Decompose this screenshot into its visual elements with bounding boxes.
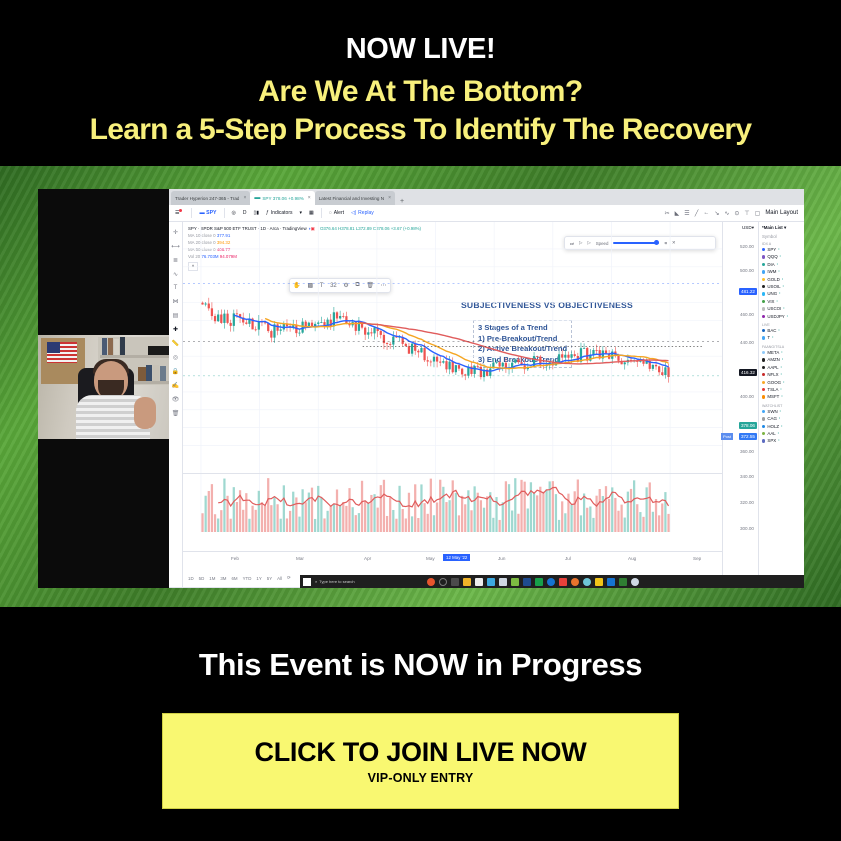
now-live-label: NOW LIVE! <box>346 33 495 66</box>
symbol-status-dot: • <box>781 349 782 356</box>
alert-button[interactable]: ◌ Alert <box>329 210 344 216</box>
trend-line-icon[interactable]: ⟷ <box>171 243 180 250</box>
windows-start-icon[interactable] <box>303 578 311 586</box>
browser-tab-2[interactable]: Latest Financial and Investing N × <box>315 191 395 205</box>
time-tick-7: Sep <box>693 556 701 561</box>
symbol-color-icon <box>762 270 765 273</box>
replay-button[interactable]: ◁| Replay <box>351 210 374 216</box>
volume-pane <box>183 473 722 551</box>
draw-mode-icon[interactable]: ✍ <box>172 382 179 389</box>
line-icon[interactable]: ╱ <box>695 210 699 217</box>
symbol-status-dot: • <box>778 246 779 253</box>
watchlist-symbol: USOIL <box>767 283 780 290</box>
symbol-status-dot: • <box>787 313 788 320</box>
time-tick-2: Apr <box>364 556 371 561</box>
presenter-webcam <box>38 335 180 439</box>
symbol-color-icon <box>762 432 765 435</box>
symbol-color-icon <box>762 248 765 251</box>
browser-tab-1[interactable]: ▬ SPY 378.06 +0.98% × <box>250 191 314 205</box>
range-1d[interactable]: 1D <box>188 576 194 581</box>
watchlist-row[interactable]: DIA• <box>762 261 801 268</box>
watchlist-row[interactable]: T• <box>762 334 801 341</box>
symbol-status-dot: • <box>778 327 779 334</box>
promo-header: NOW LIVE! Are We At The Bottom? Learn a … <box>0 0 841 166</box>
watchlist-row[interactable]: NFLX• <box>762 371 801 378</box>
range-6m[interactable]: 6M <box>231 576 237 581</box>
post-market-label: Post <box>721 433 733 440</box>
watchlist-symbol: GOOG <box>767 379 781 386</box>
symbol-status-dot: • <box>780 408 781 415</box>
taskbar-icon-app2[interactable] <box>535 578 543 586</box>
range-5y[interactable]: 5Y <box>267 576 272 581</box>
watchlist-symbol: GOLD <box>767 276 779 283</box>
symbol-color-icon <box>762 300 765 303</box>
symbol-search-button[interactable]: ▬ SPY <box>199 210 216 216</box>
watchlist-items: IDX ASPY•QQQ•DIA•IWM•GOLD•USOIL•UNG•VIX•… <box>762 242 801 445</box>
price-tick-5: 360.00 <box>740 449 754 454</box>
watchlist-panel[interactable]: *Main List ▾ Symbol IDX ASPY•QQQ•DIA•IWM… <box>758 222 804 587</box>
price-axis[interactable]: USD▾ 520.00 500.00 481.22 460.00 440.00 … <box>722 222 758 587</box>
symbol-color-icon <box>762 336 765 339</box>
watchlist-row[interactable]: IWM• <box>762 268 801 275</box>
watchlist-row[interactable]: SWN• <box>762 408 801 415</box>
time-tick-3: May <box>426 556 435 561</box>
hide-drawings-icon[interactable]: 👁 <box>172 396 180 403</box>
watchlist-symbol: AMZN <box>767 356 779 363</box>
watchlist-row[interactable]: META• <box>762 349 801 356</box>
tradingview-toolbar: ☰ ▬ SPY ◎ D ▯▮ ƒ Indicators ▾ ▦ ◌ Alert … <box>169 205 804 222</box>
timezone-refresh-icon[interactable]: ⟳ <box>287 575 291 581</box>
symbol-color-icon <box>762 255 765 258</box>
taskbar-icon-app4[interactable] <box>631 578 639 586</box>
layout-icon[interactable]: ▢ <box>755 210 761 217</box>
taskbar-icon-skype[interactable] <box>607 578 615 586</box>
range-5d[interactable]: 5D <box>199 576 205 581</box>
time-tick-6: Aug <box>628 556 636 561</box>
symbol-status-dot: • <box>778 430 779 437</box>
emoji-icon[interactable]: ✚ <box>173 326 178 333</box>
pitchfork-icon[interactable]: ↘ <box>714 210 719 217</box>
watchlist-symbol: TSLA <box>767 386 778 393</box>
watchlist-row[interactable]: MSFT• <box>762 393 801 400</box>
watchlist-row[interactable]: SPX• <box>762 437 801 444</box>
symbol-status-dot: • <box>780 386 781 393</box>
price-tick-7: 320.00 <box>740 500 754 505</box>
symbol-color-icon <box>762 395 765 398</box>
symbol-status-dot: • <box>783 283 784 290</box>
currency-label[interactable]: USD▾ <box>742 225 754 231</box>
watchlist-symbol: SWN <box>767 408 777 415</box>
symbol-status-dot: • <box>781 393 782 400</box>
fib-icon[interactable]: ⊤ <box>744 210 749 217</box>
watchlist-column-header: Symbol <box>762 234 801 239</box>
symbol-color-icon <box>762 329 765 332</box>
watchlist-symbol: VIX <box>767 298 774 305</box>
text-tool-icon[interactable]: T <box>174 285 178 291</box>
close-icon[interactable]: × <box>388 195 391 201</box>
price-tick-2: 460.00 <box>740 312 754 317</box>
symbol-status-dot: • <box>772 334 773 341</box>
search-icon: ⌕ <box>315 579 317 584</box>
taskbar-icon-mail[interactable] <box>487 578 495 586</box>
symbol-status-dot: • <box>779 290 780 297</box>
symbol-color-icon <box>762 285 765 288</box>
time-tick-5: Jul <box>565 556 571 561</box>
cta-heading: This Event is NOW in Progress <box>199 647 642 683</box>
chevron-down-icon[interactable]: ▾ <box>300 210 303 216</box>
headline-line-2: Learn a 5-Step Process To Identify The R… <box>90 113 752 147</box>
symbol-color-icon <box>762 278 765 281</box>
interval-button[interactable]: D <box>243 210 247 216</box>
taskbar-icon-cortana[interactable] <box>427 578 435 586</box>
zigzag-icon[interactable]: ∿ <box>724 210 729 217</box>
price-tick-0: 520.00 <box>740 244 754 249</box>
symbol-status-dot: • <box>783 379 784 386</box>
browser-window: Trader Hyperion 247-365 - Trad × ▬ SPY 3… <box>169 189 804 588</box>
close-icon[interactable]: × <box>243 195 246 201</box>
taskbar-icon-chrome[interactable] <box>583 578 591 586</box>
price-tick-3: 440.00 <box>740 340 754 345</box>
symbol-status-dot: • <box>782 356 783 363</box>
pitchfork-tool-icon[interactable]: ∿ <box>173 271 178 278</box>
circle-icon[interactable]: ⊙ <box>734 210 739 217</box>
symbol-color-icon <box>762 425 765 428</box>
cta-section: This Event is NOW in Progress CLICK TO J… <box>0 607 841 841</box>
symbol-status-dot: • <box>781 423 782 430</box>
taskbar-icon-widgets[interactable] <box>451 578 459 586</box>
taskbar-icon-tradingview[interactable] <box>523 578 531 586</box>
ticker-dash-icon: ▬ <box>254 195 260 201</box>
symbol-status-dot: • <box>778 437 779 444</box>
screen-share-frame: Trader Hyperion 247-365 - Trad × ▬ SPY 3… <box>38 189 804 588</box>
symbol-status-dot: • <box>780 253 781 260</box>
symbol-status-dot: • <box>776 298 777 305</box>
taskbar-search[interactable]: ⌕ Type here to search <box>315 579 423 584</box>
watchlist-row[interactable]: USDJPY• <box>762 313 801 320</box>
time-tick-4: Jun <box>498 556 505 561</box>
taskbar-icon-edge[interactable] <box>547 578 555 586</box>
chart-canvas[interactable]: SPY · SPDR S&P 500 ETF TRUST · 1D · Arca… <box>183 222 722 587</box>
watchlist-symbol: SPX <box>767 437 776 444</box>
watchlist-symbol: CAG <box>767 415 777 422</box>
symbol-status-dot: • <box>782 276 783 283</box>
magnet-icon[interactable]: ✂ <box>665 210 670 217</box>
watchlist-row[interactable]: AMZN• <box>762 356 801 363</box>
price-tick-6: 340.00 <box>740 474 754 479</box>
watchlist-row[interactable]: GOOG• <box>762 379 801 386</box>
magnet-tool-icon[interactable]: ◎ <box>173 354 178 361</box>
symbol-color-icon <box>762 292 765 295</box>
tradingview-body: ✛ ⟷ ≣ ∿ T ⋈ ▤ ✚ 📏 ◎ 🔒 ✍ 👁 🗑 <box>169 222 804 587</box>
windows-taskbar: ⌕ Type here to search <box>300 575 804 588</box>
crosshair-icon[interactable]: ✛ <box>173 229 178 236</box>
taskbar-icon-store[interactable] <box>475 578 483 586</box>
close-icon[interactable]: × <box>308 195 311 201</box>
price-tick-4: 400.00 <box>740 394 754 399</box>
watchlist-symbol: MSFT <box>767 393 779 400</box>
symbol-status-dot: • <box>777 261 778 268</box>
symbol-color-icon <box>762 439 765 442</box>
vip-entry-label: VIP-ONLY ENTRY <box>368 771 474 785</box>
price-badge-481: 481.22 <box>739 288 757 295</box>
selected-date-badge: 12 May '22 <box>443 554 470 561</box>
forecast-icon[interactable]: ▤ <box>173 312 179 319</box>
symbol-color-icon <box>762 307 765 310</box>
ruler-icon[interactable]: 📏 <box>172 340 179 347</box>
watchlist-symbol: SPY <box>767 246 776 253</box>
watchlist-symbol: USCOI <box>767 305 781 312</box>
taskbar-icon-explorer[interactable] <box>463 578 471 586</box>
watchlist-row[interactable]: USCOI• <box>762 305 801 312</box>
range-ytd[interactable]: YTD <box>243 576 252 581</box>
ray-icon[interactable]: ☰ <box>684 210 689 217</box>
arrow-icon[interactable]: ← <box>703 210 709 216</box>
watchlist-row[interactable]: AAPL• <box>762 364 801 371</box>
range-all[interactable]: All <box>277 576 282 581</box>
indicators-button[interactable]: ƒ Indicators <box>266 210 292 216</box>
watchlist-row[interactable]: VIX• <box>762 298 801 305</box>
watchlist-title[interactable]: *Main List ▾ <box>762 225 801 231</box>
watchlist-row[interactable]: TSLA• <box>762 386 801 393</box>
join-live-label: CLICK TO JOIN LIVE NOW <box>255 737 587 768</box>
watchlist-row[interactable]: USOIL• <box>762 283 801 290</box>
watchlist-row[interactable]: CAG• <box>762 415 801 422</box>
browser-tab-title: SPY 378.06 +0.98% <box>262 196 303 201</box>
taskbar-icon-notes[interactable] <box>595 578 603 586</box>
symbol-color-icon <box>762 388 765 391</box>
taskbar-icon-app3[interactable] <box>559 578 567 586</box>
remove-drawings-icon[interactable]: 🗑 <box>172 410 180 417</box>
watchlist-symbol: QQQ <box>767 253 777 260</box>
price-tick-8: 300.00 <box>740 526 754 531</box>
range-1y[interactable]: 1Y <box>256 576 261 581</box>
compare-icon[interactable]: ◎ <box>232 210 236 216</box>
symbol-color-icon <box>762 410 765 413</box>
price-badge-416: 416.32 <box>739 369 757 376</box>
range-1m[interactable]: 1M <box>209 576 215 581</box>
taskbar-icon-terminal[interactable] <box>499 578 507 586</box>
taskbar-icon-taskview[interactable] <box>439 578 447 586</box>
watchlist-symbol: T <box>767 334 770 341</box>
promo-page: NOW LIVE! Are We At The Bottom? Learn a … <box>0 0 841 841</box>
symbol-status-dot: • <box>781 371 782 378</box>
time-axis[interactable]: Feb Mar Apr May 12 May '22 Jun Jul Aug S… <box>183 551 722 567</box>
watchlist-symbol: NFLX <box>767 371 778 378</box>
watchlist-row[interactable]: HOLZ• <box>762 423 801 430</box>
headline-line-1: Are We At The Bottom? <box>258 75 583 109</box>
watchlist-symbol: AAL <box>767 430 775 437</box>
watchlist-row[interactable]: SPY• <box>762 246 801 253</box>
watchlist-row[interactable]: AAL• <box>762 430 801 437</box>
pattern-tool-icon[interactable]: ⋈ <box>173 298 179 305</box>
watchlist-symbol: USDJPY <box>767 313 784 320</box>
watchlist-row[interactable]: UNG• <box>762 290 801 297</box>
range-3m[interactable]: 3M <box>220 576 226 581</box>
watchlist-symbol: HOLZ <box>767 423 779 430</box>
price-badge-378: 378.06 <box>739 422 757 429</box>
watchlist-row[interactable]: GOLD• <box>762 276 801 283</box>
watchlist-symbol: AAPL <box>767 364 778 371</box>
browser-tab-title: Latest Financial and Investing N <box>319 196 384 201</box>
symbol-color-icon <box>762 263 765 266</box>
symbol-status-dot: • <box>783 305 784 312</box>
watchlist-symbol: UNG <box>767 290 777 297</box>
symbol-color-icon <box>762 366 765 369</box>
time-tick-0: Feb <box>231 556 239 561</box>
drawing-tools-group: ✂ ◣ ☰ ╱ ← ↘ ∿ ⊙ ⊤ ▢ Main Layout <box>665 210 798 217</box>
watchlist-row[interactable]: QQQ• <box>762 253 801 260</box>
symbol-color-icon <box>762 373 765 376</box>
symbol-status-dot: • <box>779 415 780 422</box>
lock-icon[interactable]: 🔒 <box>172 368 179 375</box>
search-placeholder: Type here to search <box>319 579 354 584</box>
symbol-color-icon <box>762 351 765 354</box>
chart-drawing-sidebar: ✛ ⟷ ≣ ∿ T ⋈ ▤ ✚ 📏 ◎ 🔒 ✍ 👁 🗑 <box>169 222 183 587</box>
symbol-color-icon <box>762 315 765 318</box>
menu-icon[interactable]: ☰ <box>175 210 184 216</box>
watchlist-row[interactable]: BAC• <box>762 327 801 334</box>
horizontal-lines-icon[interactable]: ≣ <box>173 257 178 264</box>
symbol-status-dot: • <box>781 364 782 371</box>
join-live-button[interactable]: CLICK TO JOIN LIVE NOW VIP-ONLY ENTRY <box>162 713 679 809</box>
watchlist-symbol: META <box>767 349 779 356</box>
new-tab-button[interactable]: + <box>395 198 409 205</box>
browser-tab-0[interactable]: Trader Hyperion 247-365 - Trad × <box>171 191 250 205</box>
taskbar-icon-firefox[interactable] <box>571 578 579 586</box>
symbol-status-dot: • <box>778 268 779 275</box>
watchlist-symbol: BAC <box>767 327 776 334</box>
symbol-color-icon <box>762 417 765 420</box>
price-badge-372: 372.55 <box>739 433 757 440</box>
watchlist-symbol: DIA <box>767 261 774 268</box>
american-flag-icon <box>47 342 77 363</box>
symbol-color-icon <box>762 358 765 361</box>
browser-tab-strip: Trader Hyperion 247-365 - Trad × ▬ SPY 3… <box>169 189 804 205</box>
trend-angle-icon[interactable]: ◣ <box>675 210 680 217</box>
main-layout-label[interactable]: Main Layout <box>765 210 798 216</box>
watchlist-symbol: IWM <box>767 268 776 275</box>
candle-type-icon[interactable]: ▯▮ <box>254 210 260 216</box>
browser-tab-title: Trader Hyperion 247-365 - Trad <box>175 196 239 201</box>
templates-icon[interactable]: ▦ <box>309 210 314 216</box>
taskbar-icon-excel[interactable] <box>619 578 627 586</box>
price-tick-1: 500.00 <box>740 268 754 273</box>
symbol-color-icon <box>762 381 765 384</box>
taskbar-icon-app1[interactable] <box>511 578 519 586</box>
time-tick-1: Mar <box>296 556 304 561</box>
